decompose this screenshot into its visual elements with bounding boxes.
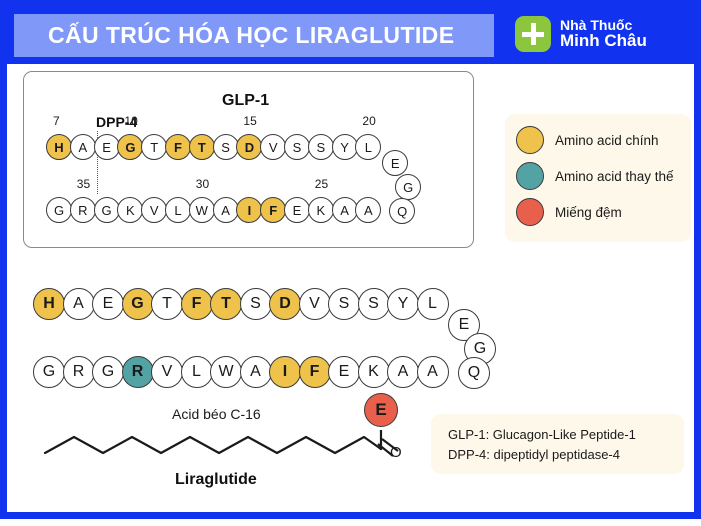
lira-residue-row1-10: S (328, 288, 360, 320)
glp1-residue-row2-10: E (284, 197, 310, 223)
glp1-title: GLP-1 (222, 92, 269, 110)
glp1-residue-row1-4: T (141, 134, 167, 160)
glp1-residue-row2-3: K (117, 197, 143, 223)
legend-item-main: Amino acid chính (516, 126, 659, 154)
note-line-1: GLP-1: Glucagon-Like Peptide-1 (448, 427, 636, 442)
glp1-curve-residue-0: E (382, 150, 408, 176)
glp1-residue-row2-2: G (94, 197, 120, 223)
lira-residue-row1-4: T (151, 288, 183, 320)
lira-residue-row2-2: G (92, 356, 124, 388)
note-line-2: DPP-4: dipeptidyl peptidase-4 (448, 447, 620, 462)
glp1-residue-row1-8: D (236, 134, 262, 160)
glp1-residue-row1-9: V (260, 134, 286, 160)
glp1-residue-row1-11: S (308, 134, 334, 160)
glp1-residue-row2-7: A (213, 197, 239, 223)
lira-residue-row2-6: W (210, 356, 242, 388)
lira-residue-row2-13: A (417, 356, 449, 388)
legend-item-sub: Amino acid thay thế (516, 162, 674, 190)
lira-residue-row2-9: F (299, 356, 331, 388)
lira-residue-row1-3: G (122, 288, 154, 320)
lira-residue-row1-1: A (63, 288, 95, 320)
lira-residue-row2-0: G (33, 356, 65, 388)
glp1-row2-number-30: 30 (196, 177, 209, 191)
glp1-row1-number-10: 10 (124, 114, 137, 128)
lira-residue-row1-6: T (210, 288, 242, 320)
legend-label-main: Amino acid chính (555, 133, 659, 148)
legend-panel: Amino acid chínhAmino acid thay thếMiếng… (505, 114, 691, 242)
lira-linker-residue-E: E (364, 393, 398, 427)
glp1-residue-row1-6: T (189, 134, 215, 160)
glp1-residue-row1-12: Y (332, 134, 358, 160)
legend-swatch-pad (516, 198, 544, 226)
lira-residue-row2-7: A (240, 356, 272, 388)
glp1-residue-row2-1: R (70, 197, 96, 223)
lira-residue-row2-10: E (328, 356, 360, 388)
infographic-root: CẤU TRÚC HÓA HỌC LIRAGLUTIDE Nhà Thuốc M… (0, 0, 701, 519)
lira-residue-row1-7: S (240, 288, 272, 320)
lira-residue-row1-0: H (33, 288, 65, 320)
lira-residue-row1-13: L (417, 288, 449, 320)
glp1-curve-residue-2: Q (389, 198, 415, 224)
glp1-row1-number-15: 15 (243, 114, 256, 128)
glp1-residue-row2-8: I (236, 197, 262, 223)
lira-residue-row2-3: R (122, 356, 154, 388)
header-bar: CẤU TRÚC HÓA HỌC LIRAGLUTIDE Nhà Thuốc M… (7, 7, 694, 64)
glp1-residue-row2-11: K (308, 197, 334, 223)
abbreviation-note: GLP-1: Glucagon-Like Peptide-1 DPP-4: di… (431, 414, 684, 474)
lira-residue-row2-8: I (269, 356, 301, 388)
glp1-residue-row1-7: S (213, 134, 239, 160)
lira-residue-row2-11: K (358, 356, 390, 388)
lira-curve-residue-2: Q (458, 357, 490, 389)
lira-residue-row2-1: R (63, 356, 95, 388)
glp1-row1-number-20: 20 (362, 114, 375, 128)
glp1-residue-row1-10: S (284, 134, 310, 160)
glp1-residue-row2-5: L (165, 197, 191, 223)
page-title: CẤU TRÚC HÓA HỌC LIRAGLUTIDE (14, 22, 454, 49)
brand-name: Nhà Thuốc Minh Châu (560, 18, 647, 51)
liraglutide-name-label: Liraglutide (175, 471, 257, 489)
glp1-residue-row2-6: W (189, 197, 215, 223)
lira-residue-row1-2: E (92, 288, 124, 320)
lira-residue-row1-11: S (358, 288, 390, 320)
glp1-residue-row1-1: A (70, 134, 96, 160)
lira-residue-row1-12: Y (387, 288, 419, 320)
legend-label-sub: Amino acid thay thế (555, 169, 674, 184)
lira-residue-row2-12: A (387, 356, 419, 388)
title-band: CẤU TRÚC HÓA HỌC LIRAGLUTIDE (14, 14, 494, 57)
glp1-residue-row2-0: G (46, 197, 72, 223)
glp1-row1-number-7: 7 (53, 114, 60, 128)
glp1-curve-residue-1: G (395, 174, 421, 200)
glp1-row2-number-35: 35 (77, 177, 90, 191)
plus-icon (515, 16, 551, 52)
brand-line-2: Minh Châu (560, 32, 647, 50)
lira-residue-row2-4: V (151, 356, 183, 388)
glp1-residue-row1-2: E (94, 134, 120, 160)
oxygen-label: O (390, 444, 402, 461)
brand-line-1: Nhà Thuốc (560, 18, 647, 33)
glp1-residue-row2-12: A (332, 197, 358, 223)
legend-swatch-sub (516, 162, 544, 190)
fatty-acid-label: Acid béo C-16 (172, 406, 261, 422)
glp1-residue-row1-0: H (46, 134, 72, 160)
glp1-residue-row2-13: A (355, 197, 381, 223)
lira-residue-row1-9: V (299, 288, 331, 320)
glp1-row2-number-25: 25 (315, 177, 328, 191)
legend-label-pad: Miếng đệm (555, 205, 622, 220)
brand-logo-group: Nhà Thuốc Minh Châu (515, 16, 647, 52)
glp1-residue-row2-9: F (260, 197, 286, 223)
lira-residue-row1-8: D (269, 288, 301, 320)
lira-residue-row2-5: L (181, 356, 213, 388)
glp1-residue-row1-5: F (165, 134, 191, 160)
glp1-panel: GLP-1 DPP-4 HAEGTFTSDVSSYL7101520EGQGRGK… (23, 71, 474, 248)
glp1-residue-row2-4: V (141, 197, 167, 223)
lira-residue-row1-5: F (181, 288, 213, 320)
legend-swatch-main (516, 126, 544, 154)
glp1-residue-row1-13: L (355, 134, 381, 160)
glp1-residue-row1-3: G (117, 134, 143, 160)
legend-item-pad: Miếng đệm (516, 198, 622, 226)
